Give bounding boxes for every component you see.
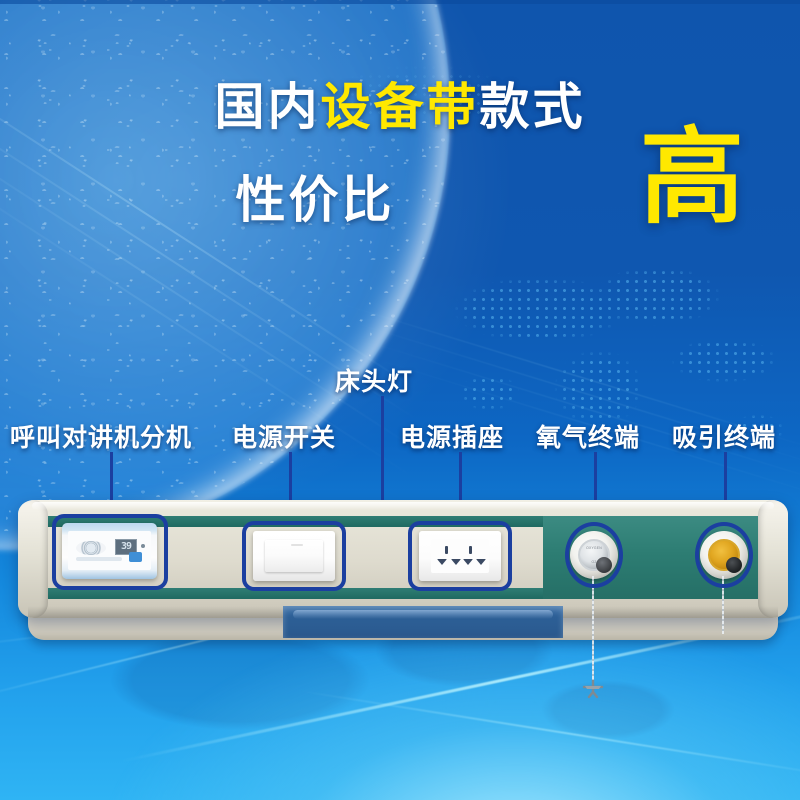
diffuser-gloss [293, 610, 553, 619]
callout-layer: 呼叫对讲机分机 床头灯 电源开关 电源插座 氧气终端 吸引终端 [0, 0, 800, 800]
panel-top-highlight [32, 502, 774, 510]
callout-circle-oxygen-terminal [565, 522, 623, 588]
callout-label-oxygen-terminal: 氧气终端 [536, 418, 640, 454]
callout-label-power-switch: 电源开关 [232, 418, 336, 454]
callout-label-bed-reading-lamp: 床头灯 [335, 362, 413, 398]
callout-label-suction-terminal: 吸引终端 [672, 418, 776, 454]
callout-label-power-socket: 电源插座 [400, 418, 504, 454]
callout-box-power-switch [242, 521, 346, 591]
callout-box-nurse-call-intercom [52, 514, 168, 590]
lamp-pull-cord[interactable] [592, 576, 594, 686]
callout-circle-suction-terminal [695, 522, 753, 588]
callout-box-power-socket [408, 521, 512, 591]
panel-end-cap-left [18, 500, 48, 618]
callout-label-nurse-call-intercom: 呼叫对讲机分机 [10, 418, 192, 454]
panel-end-cap-right [758, 500, 788, 618]
pull-cord-hook-icon [580, 680, 606, 702]
banner-canvas: 国内设备带款式 性价比 高 呼叫对讲机分机 床头灯 电源开关 电源插座 氧气终端… [0, 0, 800, 800]
